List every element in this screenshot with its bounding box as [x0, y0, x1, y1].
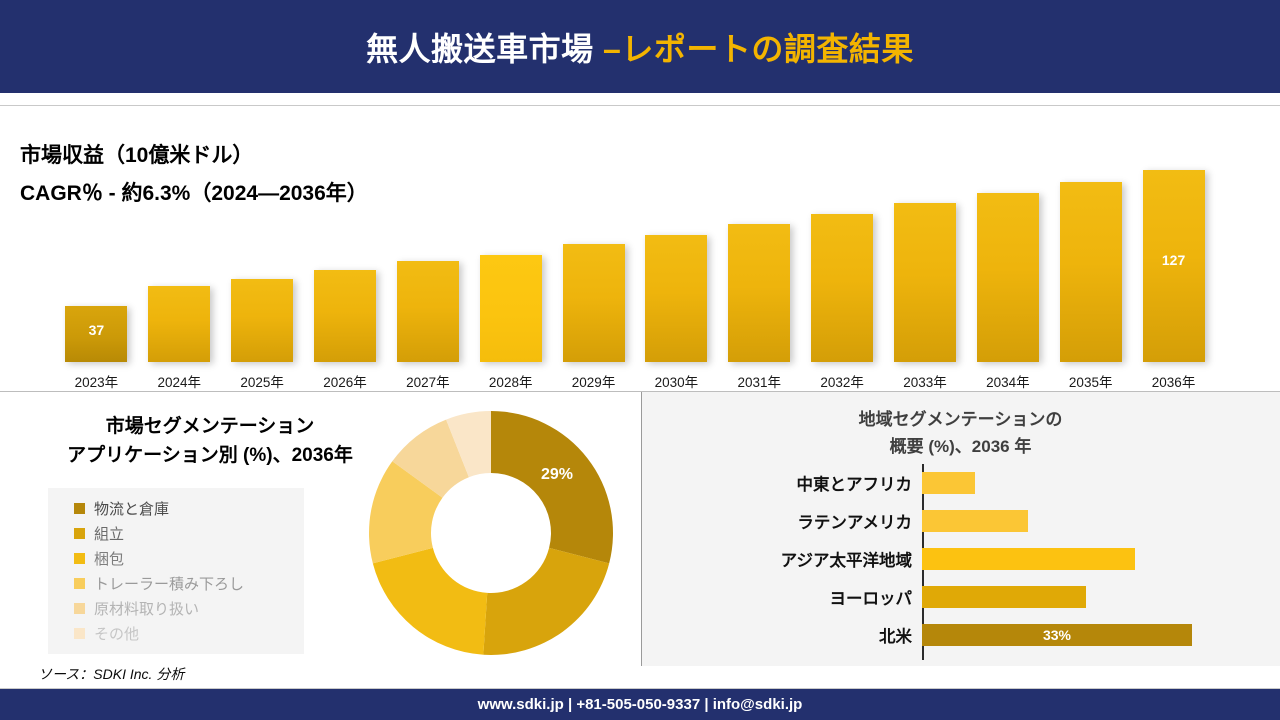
bar-wrapper: 127 [1140, 135, 1208, 362]
segmentation-title-line1: 市場セグメンテーション [0, 412, 420, 441]
region-title: 地域セグメンテーションの 概要 (%)、2036 年 [641, 406, 1280, 460]
bar-category-label: 2027年 [406, 371, 450, 391]
bar-category-label: 2030年 [655, 371, 699, 391]
bar-series: 372023年2024年2025年2026年2027年2028年2029年203… [55, 106, 1215, 391]
bar-value-label: 37 [65, 322, 127, 338]
bar-category-label: 2029年 [572, 371, 616, 391]
bar-category-label: 2023年 [75, 371, 119, 391]
bar [1060, 182, 1122, 362]
bar-category-label: 2033年 [903, 371, 947, 391]
bar-category-label: 2025年 [240, 371, 284, 391]
bar: 127 [1143, 170, 1205, 362]
legend-swatch-icon [74, 503, 85, 514]
bar-wrapper [808, 135, 876, 362]
donut-value-label: 29% [541, 466, 573, 484]
segmentation-legend: 物流と倉庫組立梱包トレーラー積み下ろし原材料取り扱いその他 [48, 488, 304, 654]
region-row: ラテンアメリカ [641, 502, 1280, 540]
bar-wrapper [974, 135, 1042, 362]
region-title-line2: 概要 (%)、2036 年 [641, 433, 1280, 460]
bar-wrapper [477, 135, 545, 362]
revenue-bar-chart: 市場収益（10億米ドル） CAGR％ - 約6.3%（2024―2036年） 3… [0, 106, 1280, 391]
legend-swatch-icon [74, 528, 85, 539]
region-bar: 33% [922, 624, 1192, 646]
panel-divider [641, 392, 642, 666]
region-bar-series: 中東とアフリカラテンアメリカアジア太平洋地域ヨーロッパ北米33% [641, 464, 1280, 654]
page-footer: www.sdki.jp | +81-505-050-9337 | info@sd… [0, 689, 1280, 720]
bar-category-label: 2035年 [1069, 371, 1113, 391]
bar-column: 2032年 [808, 106, 876, 391]
legend-item: 梱包 [74, 546, 294, 571]
bar [397, 261, 459, 362]
region-bar [922, 548, 1135, 570]
bar-column: 2033年 [891, 106, 959, 391]
region-row: アジア太平洋地域 [641, 540, 1280, 578]
region-row: 中東とアフリカ [641, 464, 1280, 502]
legend-swatch-icon [74, 603, 85, 614]
donut-segment [483, 548, 609, 655]
bar [645, 235, 707, 362]
segmentation-panel: 市場セグメンテーション アプリケーション別 (%)、2036年 物流と倉庫組立梱… [0, 392, 641, 666]
region-label: 中東とアフリカ [641, 471, 922, 495]
infographic-page: 無人搬送車市場 –レポートの調査結果 市場収益（10億米ドル） CAGR％ - … [0, 0, 1280, 720]
region-bar-value-label: 33% [1043, 627, 1071, 643]
header-spacer [0, 93, 1280, 105]
footer-contact: www.sdki.jp | +81-505-050-9337 | info@sd… [478, 696, 803, 713]
bar-category-label: 2024年 [158, 371, 202, 391]
bar [977, 193, 1039, 362]
bar-column: 2028年 [477, 106, 545, 391]
bar-column: 2035年 [1057, 106, 1125, 391]
bar [231, 279, 293, 362]
bar-wrapper [394, 135, 462, 362]
bar-value-label: 127 [1143, 252, 1205, 268]
bar-column: 2034年 [974, 106, 1042, 391]
region-label: ヨーロッパ [641, 585, 922, 609]
legend-item: 原材料取り扱い [74, 596, 294, 621]
bar-wrapper [145, 135, 213, 362]
bar-column: 2024年 [145, 106, 213, 391]
bar-category-label: 2028年 [489, 371, 533, 391]
bar [811, 214, 873, 362]
donut-segment [491, 411, 613, 563]
bar-wrapper [228, 135, 296, 362]
bar-wrapper: 37 [62, 135, 130, 362]
region-label: 北米 [641, 623, 922, 647]
segmentation-title: 市場セグメンテーション アプリケーション別 (%)、2036年 [0, 412, 420, 471]
legend-item: 組立 [74, 521, 294, 546]
region-title-line1: 地域セグメンテーションの [641, 406, 1280, 433]
legend-label: 原材料取り扱い [94, 598, 199, 619]
bar-category-label: 2036年 [1152, 371, 1196, 391]
legend-item: トレーラー積み下ろし [74, 571, 294, 596]
bar [480, 255, 542, 362]
legend-label: 物流と倉庫 [94, 498, 169, 519]
bar-category-label: 2034年 [986, 371, 1030, 391]
region-bar [922, 586, 1086, 608]
page-title-main: 無人搬送車市場 [366, 31, 594, 67]
page-title-accent: –レポートの調査結果 [603, 31, 914, 67]
bar [728, 224, 790, 362]
donut-chart: 29% [360, 404, 622, 662]
region-row: ヨーロッパ [641, 578, 1280, 616]
segmentation-title-line2: アプリケーション別 (%)、2036年 [0, 441, 420, 470]
bar-column: 2026年 [311, 106, 379, 391]
region-bar [922, 510, 1028, 532]
bar-column: 372023年 [62, 106, 130, 391]
source-note: ソース：SDKI Inc. 分析 [38, 664, 184, 684]
bar: 37 [65, 306, 127, 362]
bar [563, 244, 625, 362]
bar-wrapper [725, 135, 793, 362]
region-bar [922, 472, 975, 494]
region-panel: 地域セグメンテーションの 概要 (%)、2036 年 中東とアフリカラテンアメリ… [641, 392, 1280, 666]
bar-column: 1272036年 [1140, 106, 1208, 391]
legend-label: 梱包 [94, 548, 124, 569]
bar-category-label: 2026年 [323, 371, 367, 391]
legend-item: その他 [74, 621, 294, 646]
page-title: 無人搬送車市場 –レポートの調査結果 [366, 24, 914, 70]
legend-label: その他 [94, 623, 139, 644]
page-header: 無人搬送車市場 –レポートの調査結果 [0, 0, 1280, 93]
legend-swatch-icon [74, 578, 85, 589]
bar-wrapper [1057, 135, 1125, 362]
bar-column: 2030年 [642, 106, 710, 391]
legend-item: 物流と倉庫 [74, 496, 294, 521]
region-label: ラテンアメリカ [641, 509, 922, 533]
bar-category-label: 2031年 [738, 371, 782, 391]
legend-label: 組立 [94, 523, 124, 544]
bar-wrapper [642, 135, 710, 362]
bar [314, 270, 376, 362]
bar-wrapper [311, 135, 379, 362]
bar-column: 2031年 [725, 106, 793, 391]
bar [148, 286, 210, 362]
region-row: 北米33% [641, 616, 1280, 654]
legend-swatch-icon [74, 553, 85, 564]
bar [894, 203, 956, 362]
legend-swatch-icon [74, 628, 85, 639]
legend-label: トレーラー積み下ろし [94, 573, 244, 594]
region-label: アジア太平洋地域 [641, 547, 922, 571]
donut-svg [360, 404, 622, 662]
bar-column: 2029年 [560, 106, 628, 391]
donut-segment [373, 548, 487, 655]
bar-column: 2027年 [394, 106, 462, 391]
bar-column: 2025年 [228, 106, 296, 391]
bar-category-label: 2032年 [820, 371, 864, 391]
bar-wrapper [891, 135, 959, 362]
bar-wrapper [560, 135, 628, 362]
